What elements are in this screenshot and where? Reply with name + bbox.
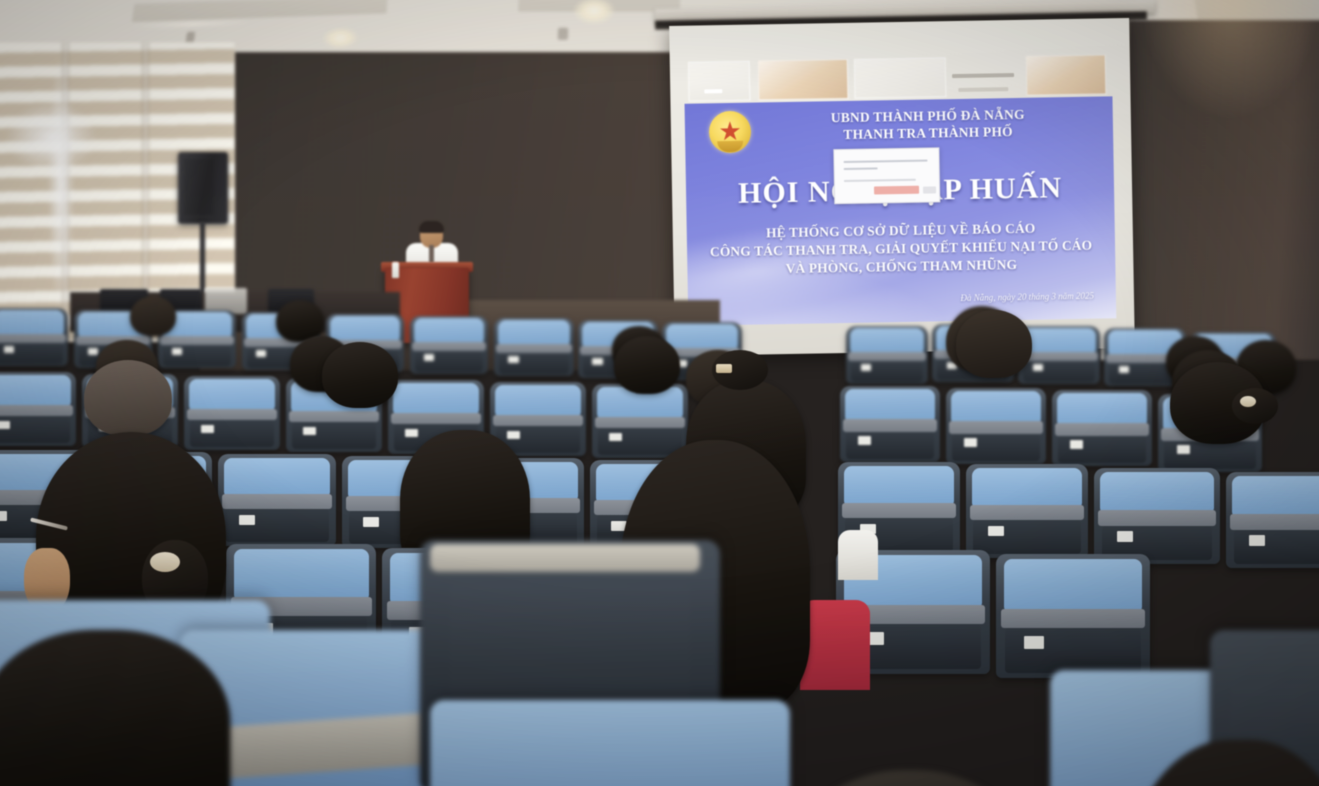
auditorium-seat[interactable] — [996, 554, 1150, 678]
auditorium-seat[interactable] — [966, 464, 1088, 558]
audience-head — [84, 360, 172, 436]
audience-white-shirt — [838, 530, 878, 580]
emblem-gear-arc — [717, 141, 743, 152]
audience-head — [956, 310, 1032, 378]
foreground-audience-head — [760, 770, 1060, 786]
ceiling-downlight — [573, 0, 614, 24]
ceiling-downlight — [322, 28, 359, 48]
audience-seating — [0, 300, 1319, 786]
presentation-slide: ★ UBND THÀNH PHỐ ĐÀ NẴNG THANH TRA THÀNH… — [685, 96, 1117, 325]
hair-tie — [150, 552, 180, 572]
screen-thumbnail — [688, 61, 751, 102]
auditorium-seat[interactable] — [184, 376, 280, 450]
auditorium-seat[interactable] — [1226, 472, 1319, 568]
screen-thumbnail — [854, 57, 947, 99]
auditorium-seat[interactable] — [846, 326, 928, 384]
auditorium-seat[interactable] — [494, 318, 574, 376]
auditorium-seat[interactable] — [0, 308, 68, 366]
slide-organization: UBND THÀNH PHỐ ĐÀ NẴNG THANH TRA THÀNH P… — [763, 105, 1094, 145]
screen-thumbnail — [758, 59, 849, 101]
dialog-text-line — [844, 160, 928, 163]
blinds-light-streak — [48, 52, 74, 312]
presenter-hair — [419, 221, 444, 233]
slide-subtitle: HỆ THỐNG CƠ SỞ DỮ LIỆU VỀ BÁO CÁO CÔNG T… — [697, 218, 1106, 279]
foreground-seat[interactable] — [430, 700, 790, 786]
blinds-glare — [6, 102, 96, 172]
pa-speaker — [178, 152, 228, 224]
presenter-tie — [429, 245, 434, 263]
audience-head — [322, 342, 398, 408]
auditorium-seat[interactable] — [592, 384, 688, 458]
auditorium-seat[interactable] — [218, 454, 336, 546]
dialog-text-line — [844, 179, 916, 182]
projector-mount — [558, 28, 569, 40]
screen-text-line — [958, 87, 1008, 92]
audience-hair-bun — [1232, 388, 1278, 424]
hair-tie — [1240, 396, 1256, 407]
auditorium-seat[interactable] — [1052, 390, 1152, 466]
foreground-seat-band — [430, 544, 700, 572]
conference-hall-photo: ★ UBND THÀNH PHỐ ĐÀ NẴNG THANH TRA THÀNH… — [0, 0, 1319, 786]
ceiling-panel — [132, 0, 387, 22]
screen-thumbnail — [1026, 54, 1107, 95]
water-bottle — [392, 262, 399, 278]
screen-text-line — [704, 89, 722, 93]
auditorium-seat[interactable] — [410, 316, 488, 374]
white-popup-dialog[interactable] — [833, 147, 940, 204]
audience-red-shirt — [800, 600, 870, 690]
screen-text-line — [952, 73, 1014, 78]
auditorium-seat[interactable] — [1094, 468, 1220, 564]
audience-head — [130, 296, 176, 336]
audience-head — [614, 336, 680, 394]
dialog-text-line — [844, 167, 878, 170]
auditorium-seat[interactable] — [946, 388, 1046, 464]
hair-clip — [716, 364, 732, 373]
auditorium-seat[interactable] — [840, 386, 940, 462]
vietnam-emblem-icon: ★ — [709, 111, 752, 154]
dialog-secondary-button[interactable] — [923, 186, 936, 193]
wall-light-glow — [1140, 0, 1319, 120]
dialog-primary-button[interactable] — [874, 186, 919, 195]
auditorium-seat[interactable] — [0, 372, 76, 446]
